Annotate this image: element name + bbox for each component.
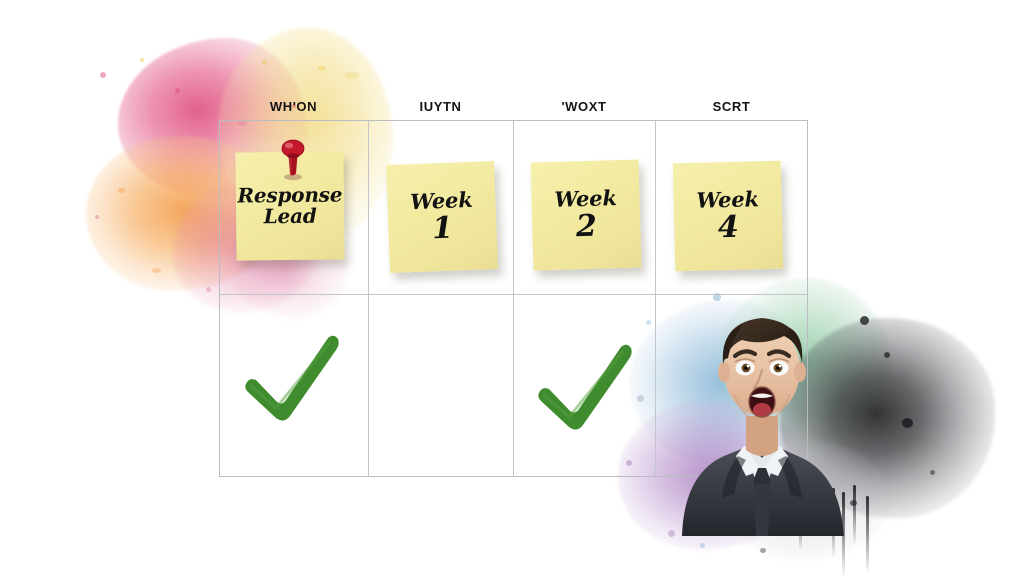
column-header-2: IUYTN [368,96,513,118]
grid-row-divider [220,294,807,295]
splash-speck [118,188,125,193]
splash-speck [930,470,935,475]
column-header-1: WH'ON [219,96,368,118]
splash-speck [345,72,359,79]
pushpin-icon [276,139,310,181]
ink-drip [853,485,856,545]
splash-speck [700,543,705,548]
splash-speck [760,548,766,553]
splash-speck [100,72,106,78]
splash-speck [152,268,161,273]
checkmark-column-1 [240,332,344,424]
sticky-note-week-1[interactable]: Week 1 [386,161,498,273]
column-header-3: 'WOXT [513,96,655,118]
sticky-note-week-4[interactable]: Week 4 [673,161,784,272]
sticky-note-line-2: Lead [264,206,317,227]
sticky-note-line-1: Week [410,189,473,213]
splash-speck [95,215,99,219]
ink-drip [866,496,869,574]
splash-speck [876,444,884,451]
splash-speck [860,316,869,325]
splash-speck [140,58,144,62]
splash-speck [884,352,890,358]
grid-column-divider [513,121,514,476]
grid-column-divider [655,121,656,476]
checkmark-column-3 [533,341,637,433]
shocked-man-portrait [672,298,852,536]
sticky-note-line-1: Week [696,188,759,211]
sticky-note-line-2: 4 [718,212,739,244]
whiteboard-canvas: WH'ON IUYTN 'WOXT SCRT Response Lead Wee… [0,0,1024,576]
splash-speck [206,287,211,292]
splash-speck [902,418,913,428]
splash-speck [262,60,267,65]
sticky-note-line-2: 1 [432,212,454,244]
column-header-4: SCRT [655,96,808,118]
splash-speck [318,66,326,71]
sticky-note-line-2: 2 [576,211,598,243]
grid-column-divider [368,121,369,476]
splash-speck [175,88,180,93]
sticky-note-line-1: Week [554,187,617,211]
sticky-note-week-2[interactable]: Week 2 [531,160,642,271]
